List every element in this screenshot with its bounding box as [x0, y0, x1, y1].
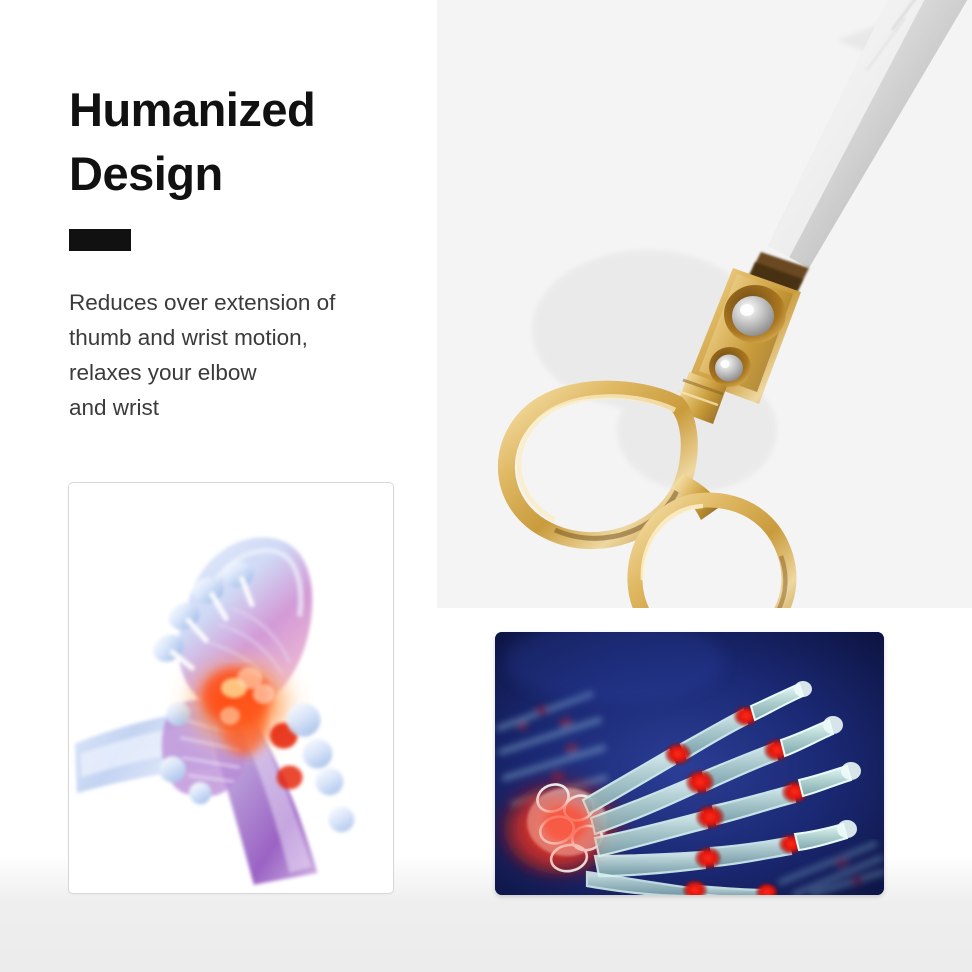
joint-inflammation-card: [495, 632, 884, 895]
joint-inflammation-illustration: [495, 632, 884, 895]
description-text: Reduces over extension of thumb and wris…: [69, 285, 429, 425]
headline-line-2: Design: [69, 142, 429, 206]
scissors-illustration: [437, 0, 972, 608]
headline-line-1: Humanized: [69, 78, 429, 142]
page-title: Humanized Design: [69, 78, 429, 206]
description-line-4: and wrist: [69, 390, 429, 425]
pivot-screw: [724, 285, 786, 343]
wrist-xray-card: [68, 482, 394, 894]
description-line-3: relaxes your elbow: [69, 355, 429, 390]
wrist-xray-illustration: [69, 483, 393, 893]
tension-screw: [709, 347, 751, 387]
product-infographic-page: Humanized Design Reduces over extension …: [0, 0, 972, 972]
description-line-1: Reduces over extension of: [69, 285, 429, 320]
description-line-2: thumb and wrist motion,: [69, 320, 429, 355]
title-divider-bar: [69, 229, 131, 251]
scissors-image-panel: [437, 0, 972, 608]
text-block: Humanized Design Reduces over extension …: [69, 78, 429, 425]
